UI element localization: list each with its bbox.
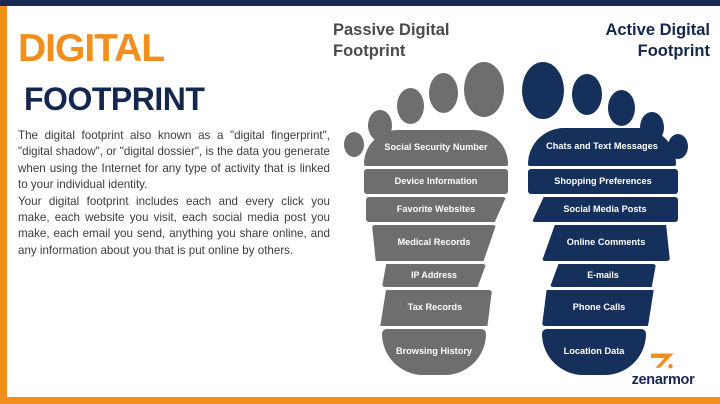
active-toe-2 bbox=[572, 74, 602, 115]
zenarmor-wordmark: zenarmor bbox=[620, 373, 706, 388]
passive-label-social-security-number: Social Security Number bbox=[364, 130, 508, 166]
left-accent-bar bbox=[0, 6, 7, 398]
passive-heading: Passive Digital Footprint bbox=[333, 20, 523, 62]
active-heading-line1: Active Digital bbox=[524, 20, 710, 41]
passive-toe-1 bbox=[464, 62, 504, 117]
active-label-chats-and-text-messages: Chats and Text Messages bbox=[528, 128, 676, 166]
passive-toe-5 bbox=[344, 132, 364, 157]
active-label-social-media-posts: Social Media Posts bbox=[532, 197, 678, 222]
intro-paragraph-2: Your digital footprint includes each and… bbox=[18, 194, 330, 260]
zenarmor-mark-icon bbox=[648, 350, 678, 372]
passive-label-device-information: Device Information bbox=[364, 169, 508, 194]
active-label-phone-calls: Phone Calls bbox=[542, 290, 656, 326]
passive-label-favorite-websites: Favorite Websites bbox=[366, 197, 506, 222]
passive-label-tax-records: Tax Records bbox=[378, 290, 492, 326]
passive-toe-2 bbox=[429, 73, 458, 113]
active-toe-3 bbox=[608, 90, 635, 126]
top-accent-bar bbox=[0, 0, 720, 6]
page-title-secondary: Footprint bbox=[24, 72, 330, 118]
page-title-primary: Digital bbox=[18, 14, 330, 70]
intro-paragraph-1: The digital footprint also known as a "d… bbox=[18, 128, 330, 194]
bottom-accent-bar bbox=[0, 397, 720, 404]
active-label-shopping-preferences: Shopping Preferences bbox=[528, 169, 678, 194]
active-label-online-comments: Online Comments bbox=[542, 225, 670, 261]
infographic-poster: Digital Footprint The digital footprint … bbox=[0, 0, 720, 404]
passive-toe-3 bbox=[397, 88, 424, 124]
active-toe-1 bbox=[522, 62, 564, 119]
passive-label-browsing-history: Browsing History bbox=[382, 329, 486, 375]
active-heading-line2: Footprint bbox=[524, 41, 710, 62]
passive-footprint-graphic: Social Security Number Device Informatio… bbox=[340, 62, 515, 388]
passive-label-medical-records: Medical Records bbox=[372, 225, 496, 261]
active-footprint-graphic: Chats and Text Messages Shopping Prefere… bbox=[520, 62, 705, 388]
zenarmor-logo: zenarmor bbox=[620, 350, 706, 388]
passive-heading-line1: Passive Digital bbox=[333, 20, 523, 41]
active-label-emails: E-mails bbox=[550, 264, 656, 287]
active-heading: Active Digital Footprint bbox=[524, 20, 710, 62]
passive-label-ip-address: IP Address bbox=[382, 264, 486, 287]
intro-column: Digital Footprint The digital footprint … bbox=[18, 14, 330, 259]
passive-heading-line2: Footprint bbox=[333, 41, 523, 62]
